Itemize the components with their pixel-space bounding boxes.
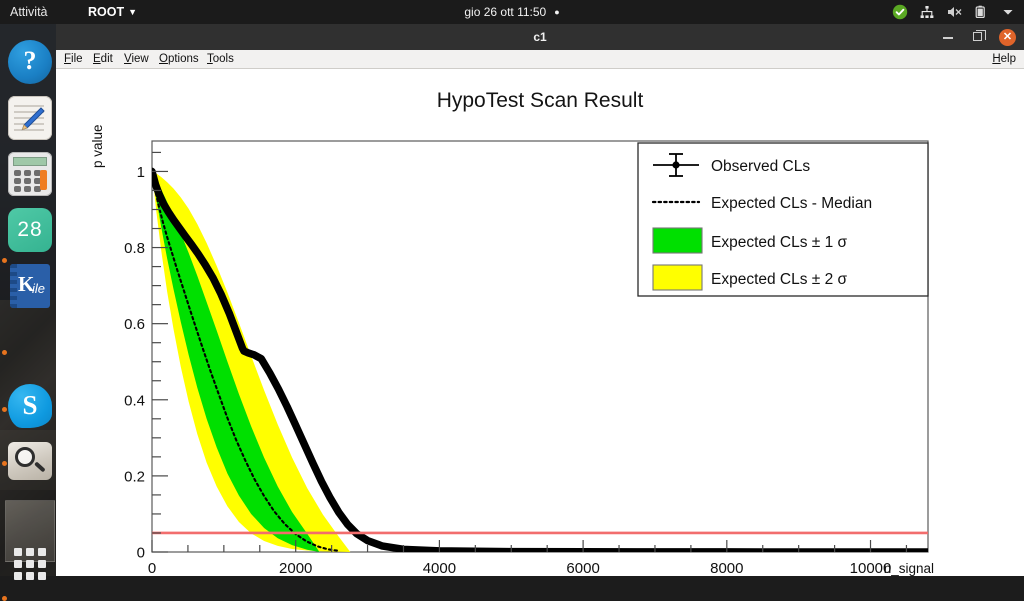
menu-item-view[interactable]: View xyxy=(124,53,149,65)
window-title-bar[interactable]: c1 ✕ xyxy=(56,24,1024,50)
x-axis-tick-labels: 0200040006000800010000 xyxy=(148,560,892,577)
running-indicator xyxy=(2,407,7,412)
menu-item-help[interactable]: Help xyxy=(992,53,1016,65)
y-tick-label: 0 xyxy=(137,545,145,562)
legend-label-expected-median: Expected CLs - Median xyxy=(711,195,872,212)
dock-item-calendar[interactable]: 28 xyxy=(8,208,52,252)
y-tick-label: 0.4 xyxy=(124,392,145,409)
window-controls: ✕ xyxy=(939,24,1016,50)
menu-item-edit[interactable]: Edit xyxy=(93,53,113,65)
y-axis-label: p value xyxy=(90,124,105,168)
x-tick-label: 6000 xyxy=(566,560,599,577)
volume-muted-icon[interactable] xyxy=(946,4,962,20)
running-indicator xyxy=(2,461,7,466)
show-applications-icon[interactable] xyxy=(14,548,46,580)
menu-item-tools[interactable]: Tools xyxy=(207,53,234,65)
running-indicator xyxy=(2,258,7,263)
chart-title: HypoTest Scan Result xyxy=(437,89,644,112)
system-tray xyxy=(892,0,1016,24)
shield-check-icon[interactable] xyxy=(892,4,908,20)
legend-label-2sigma: Expected CLs ± 2 σ xyxy=(711,271,848,288)
chevron-down-icon[interactable] xyxy=(1000,4,1016,20)
calendar-icon: 28 xyxy=(8,208,52,252)
root-canvas-window: c1 ✕ File Edit View Options Tools Help H… xyxy=(56,24,1024,576)
dock: ? 28 K ile S xyxy=(0,24,60,576)
skype-icon: S xyxy=(8,384,52,428)
calculator-icon xyxy=(8,152,52,196)
legend-label-1sigma: Expected CLs ± 1 σ xyxy=(711,234,848,251)
chart-legend: Observed CLs Expected CLs - Median Expec… xyxy=(638,143,928,296)
running-indicator xyxy=(2,350,7,355)
network-icon[interactable] xyxy=(919,4,935,20)
battery-icon[interactable] xyxy=(973,4,989,20)
dock-item-kile[interactable]: K ile xyxy=(10,264,54,308)
dock-item-calculator[interactable] xyxy=(8,152,52,196)
minimize-button[interactable] xyxy=(939,28,957,46)
y-tick-label: 0.2 xyxy=(124,468,145,485)
x-axis-label: n_signal xyxy=(884,561,934,576)
clock-label: gio 26 ott 11:50 xyxy=(464,5,546,19)
maximize-button[interactable] xyxy=(969,28,987,46)
hypotest-scan-plot: HypoTest Scan Result 0200040006000800010… xyxy=(56,70,1024,577)
menu-item-options[interactable]: Options xyxy=(159,53,199,65)
x-tick-label: 0 xyxy=(148,560,156,577)
close-button[interactable]: ✕ xyxy=(999,29,1016,46)
notification-dot-icon: ● xyxy=(554,7,559,17)
y-tick-label: 0.8 xyxy=(124,240,145,257)
file-search-icon xyxy=(8,442,52,480)
legend-entry-observed[interactable]: Observed CLs xyxy=(653,154,810,176)
dock-item-file-search[interactable] xyxy=(8,442,52,486)
dock-item-skype[interactable]: S xyxy=(8,384,52,428)
system-top-bar: Attività ROOT▼ gio 26 ott 11:50● xyxy=(0,0,1024,24)
y-tick-label: 0.6 xyxy=(124,316,145,333)
x-tick-label: 8000 xyxy=(710,560,743,577)
window-title: c1 xyxy=(56,30,1024,44)
dock-item-text-editor[interactable] xyxy=(8,96,52,140)
menu-bar: File Edit View Options Tools Help xyxy=(56,50,1024,69)
y-tick-label: 1 xyxy=(137,164,145,181)
pencil-icon xyxy=(16,105,46,135)
menu-item-file[interactable]: File xyxy=(64,53,83,65)
y-axis-tick-labels: 00.20.40.60.81 xyxy=(124,164,145,562)
text-editor-icon xyxy=(8,96,52,140)
kile-icon-suffix: ile xyxy=(32,281,45,296)
running-indicator xyxy=(2,596,7,601)
dock-item-help[interactable]: ? xyxy=(8,40,52,84)
legend-label-observed: Observed CLs xyxy=(711,158,810,175)
root-canvas[interactable]: HypoTest Scan Result 0200040006000800010… xyxy=(56,69,1024,576)
x-tick-label: 4000 xyxy=(423,560,456,577)
x-tick-label: 2000 xyxy=(279,560,312,577)
help-icon: ? xyxy=(8,40,52,84)
kile-icon: K ile xyxy=(10,264,50,308)
clock[interactable]: gio 26 ott 11:50● xyxy=(0,5,1024,19)
